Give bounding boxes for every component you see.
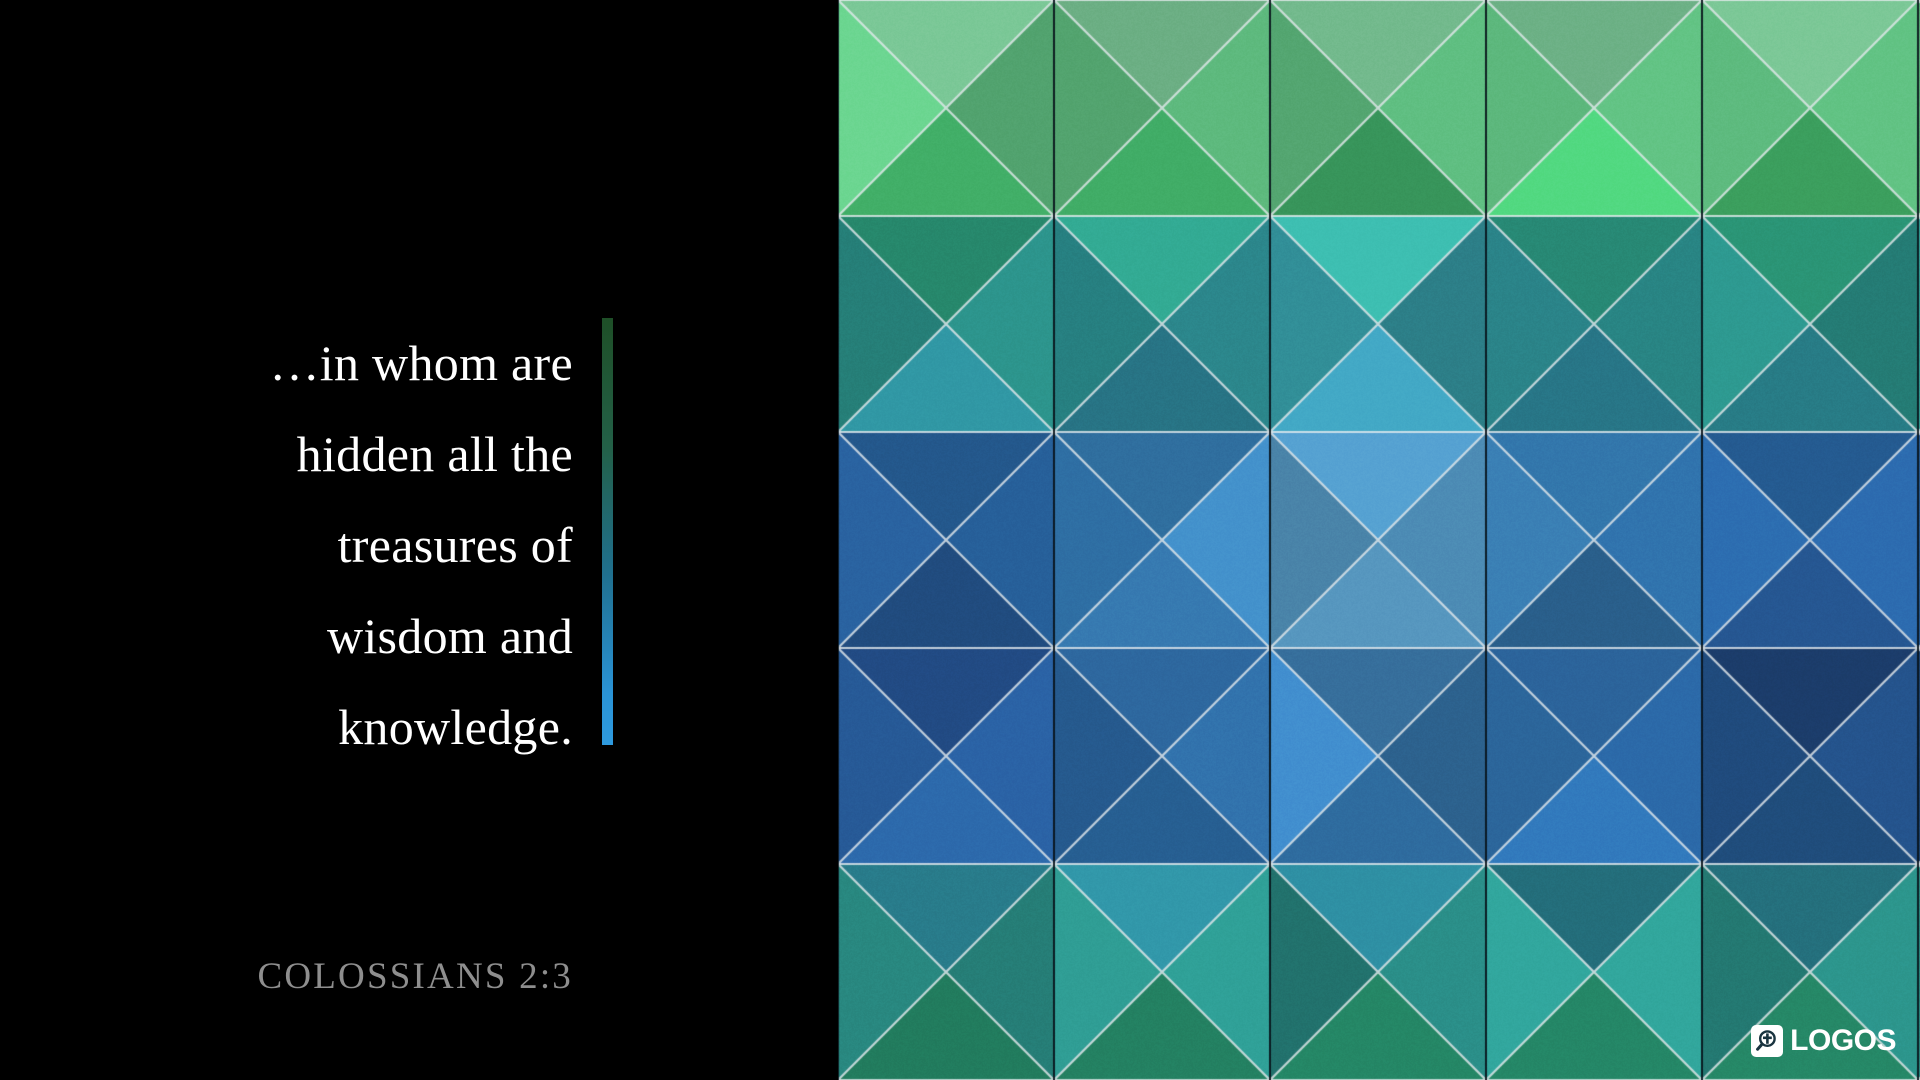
- text-panel: …in whom are hidden all the treasures of…: [0, 0, 838, 1080]
- scripture-reference: COLOSSIANS 2:3: [0, 955, 613, 998]
- quote-block: …in whom are hidden all the treasures of…: [0, 318, 613, 745]
- logos-magnifier-cross-icon: [1751, 1025, 1783, 1057]
- verse-art-slide: …in whom are hidden all the treasures of…: [0, 0, 1920, 1080]
- logos-watermark: LOGOS: [1751, 1024, 1896, 1058]
- logos-wordmark: LOGOS: [1790, 1026, 1896, 1056]
- geometric-pattern-panel: LOGOS: [838, 0, 1920, 1080]
- verse-quote-text: …in whom are hidden all the treasures of…: [153, 318, 573, 773]
- accent-gradient-bar: [602, 318, 613, 745]
- triangle-pattern-canvas: [838, 0, 1920, 1080]
